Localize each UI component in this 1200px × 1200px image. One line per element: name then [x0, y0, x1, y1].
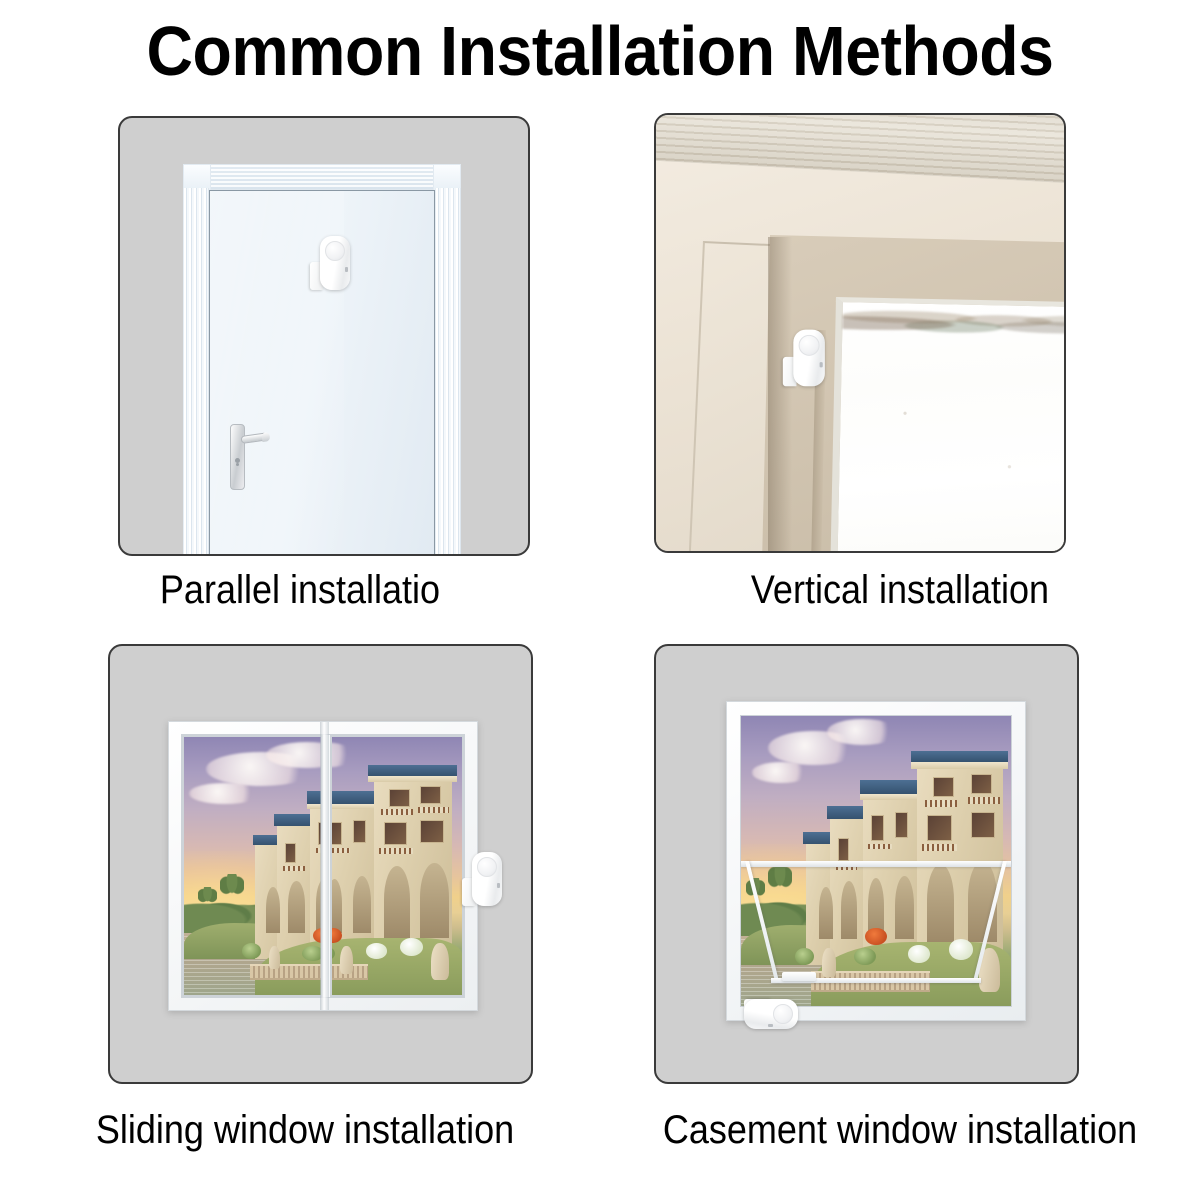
- villa-window: [933, 777, 955, 797]
- villa-balcony-rail: [925, 800, 957, 807]
- handle-backplate: [230, 424, 245, 490]
- casement-window-frame: [726, 701, 1026, 1021]
- sensor-body: [320, 236, 350, 290]
- panel-parallel-installation: [118, 116, 530, 556]
- villa-balcony-rail: [283, 866, 305, 871]
- handle-keyhole: [235, 458, 240, 463]
- sensor-led: [345, 267, 348, 272]
- caption-parallel-installation: Parallel installatio: [30, 568, 570, 612]
- villa-roof: [911, 751, 1008, 763]
- villa-window: [971, 812, 995, 838]
- scene-palm-tree: [198, 887, 217, 913]
- scene-flower-bed: [366, 943, 387, 958]
- caption-sliding-window-installation: Sliding window installation: [40, 1108, 571, 1152]
- circular-dial-icon: [773, 1004, 793, 1024]
- circular-dial-icon: [477, 857, 497, 877]
- villa-roof: [368, 765, 456, 775]
- sensor-body: [744, 999, 798, 1029]
- casement-window-opening: [740, 715, 1012, 1007]
- scene-palm-tree: [746, 878, 765, 907]
- sash-right-glass: [332, 737, 462, 995]
- scene-cloud: [189, 783, 260, 804]
- villa-window: [838, 838, 849, 861]
- circular-dial-icon: [799, 335, 820, 356]
- scene-flower-bed: [908, 945, 930, 962]
- door-jamb-left: [183, 188, 209, 556]
- villa-cornice: [911, 762, 1008, 769]
- scene-shrub: [242, 943, 261, 958]
- villa-balcony-rail: [922, 844, 957, 851]
- scene-flower-bed: [949, 939, 973, 959]
- scene-cloud: [752, 762, 811, 782]
- scene-palm-tree: [768, 864, 792, 902]
- scene-garden-urn: [822, 948, 836, 977]
- villa-window: [971, 774, 993, 794]
- villa-arcade-arch: [841, 881, 857, 939]
- casement-transom-bar: [741, 861, 1011, 867]
- panel-casement-window-installation: [654, 644, 1079, 1084]
- scene-shrub: [302, 946, 321, 961]
- villa-balcony-rail: [332, 848, 350, 853]
- sliding-window-frame: [168, 721, 478, 1011]
- villa-balcony-rail: [379, 848, 413, 854]
- villa-arcade-arch: [384, 866, 410, 938]
- sensor-led: [497, 883, 500, 888]
- villa-arcade-arch: [266, 887, 280, 933]
- villa-arcade-arch: [420, 863, 449, 938]
- villa-arcade-arch: [819, 887, 833, 939]
- scene-palm-tree: [220, 874, 245, 908]
- sensor-led: [820, 362, 823, 367]
- casement-window-illustration: [656, 646, 1077, 1082]
- villa-balcony-rail: [968, 797, 1000, 804]
- door-window-sensor-icon: [462, 852, 508, 908]
- caption-vertical-installation: Vertical installation: [630, 568, 1170, 612]
- villa-arcade-arch: [927, 864, 954, 942]
- scene-garden-urn: [979, 948, 1001, 992]
- panel-vertical-installation: [654, 113, 1066, 553]
- villa-window: [895, 812, 909, 838]
- villa-window: [420, 820, 443, 843]
- sensor-led: [768, 1024, 773, 1027]
- villa-arcade-arch: [353, 876, 371, 933]
- page-title: Common Installation Methods: [48, 14, 1152, 88]
- glass-specks: [836, 332, 1064, 551]
- sliding-sash-left: [182, 735, 327, 997]
- lintel-flutes: [184, 165, 460, 189]
- scene-balustrade: [250, 964, 321, 979]
- scene-garden-urn: [340, 946, 353, 974]
- villa-arcade-arch: [968, 861, 998, 942]
- villa-arcade-arch: [288, 881, 304, 933]
- villa-window: [332, 822, 342, 845]
- villa-balcony-rail: [868, 844, 892, 850]
- door-window-sensor-icon: [744, 989, 800, 1035]
- villa-sunset-scene: [184, 737, 321, 995]
- window-frame-photo: [656, 115, 1064, 551]
- scene-garden-urn: [269, 946, 280, 969]
- villa-balcony-rail: [418, 807, 449, 813]
- door-window-sensor-icon: [783, 330, 831, 389]
- circular-dial-icon: [325, 241, 345, 261]
- villa-arcade-arch: [895, 876, 914, 940]
- door-handle-icon: [222, 424, 268, 490]
- villa-cornice: [368, 776, 456, 782]
- sliding-rail: [320, 722, 329, 1010]
- sensor-body: [793, 330, 825, 387]
- scene-flowering-tree: [865, 928, 887, 945]
- door-illustration: [120, 118, 528, 554]
- villa-window: [389, 789, 410, 807]
- villa-balcony-rail: [381, 809, 412, 815]
- villa-window: [420, 786, 441, 804]
- bright-window-glass: [830, 297, 1064, 551]
- villa-sunset-scene: [332, 737, 462, 995]
- villa-window: [927, 815, 951, 841]
- scene-cloud: [827, 719, 897, 745]
- door-window-sensor-icon: [310, 236, 356, 292]
- sliding-sash-right: [327, 735, 464, 997]
- villa-window: [384, 822, 407, 845]
- scene-garden-urn: [431, 943, 449, 979]
- sash-left-glass: [184, 737, 321, 995]
- villa-window: [871, 815, 885, 841]
- reveal-shadow: [768, 237, 792, 551]
- caption-casement-window-installation: Casement window installation: [630, 1108, 1170, 1152]
- panel-sliding-window-installation: [108, 644, 533, 1084]
- sliding-window-illustration: [110, 646, 531, 1082]
- sensor-body: [472, 852, 502, 906]
- villa-window: [353, 820, 366, 843]
- door-jamb-right: [435, 188, 461, 556]
- villa-window: [285, 843, 296, 864]
- door-lintel: [183, 164, 461, 190]
